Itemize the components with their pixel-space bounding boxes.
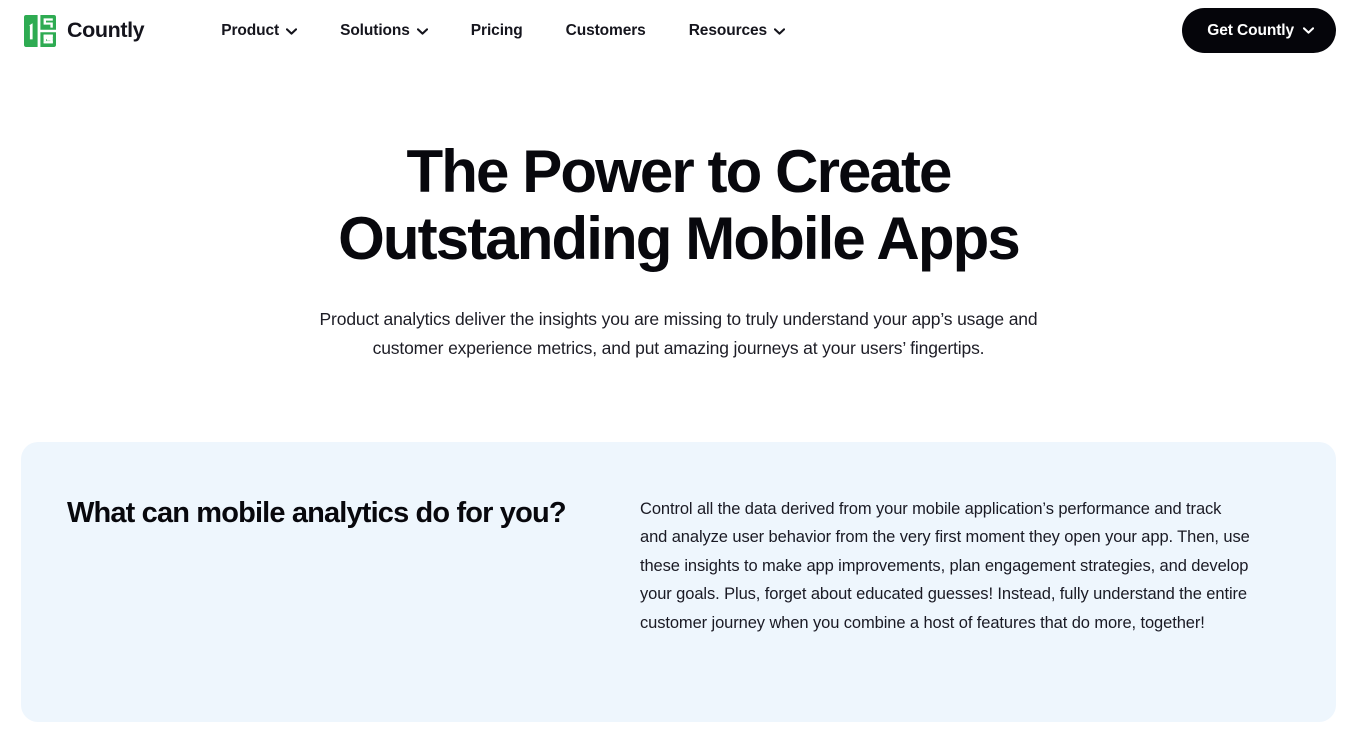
site-header: Countly Product Solutions Pricing Custom… bbox=[0, 0, 1357, 62]
chevron-down-icon bbox=[417, 28, 428, 35]
hero-subtitle: Product analytics deliver the insights y… bbox=[284, 305, 1074, 362]
nav-item-solutions[interactable]: Solutions bbox=[340, 16, 428, 46]
brand-name: Countly bbox=[67, 20, 144, 42]
info-card-body: Control all the data derived from your m… bbox=[640, 495, 1252, 637]
nav-item-pricing[interactable]: Pricing bbox=[471, 16, 523, 46]
info-card-left: What can mobile analytics do for you? bbox=[67, 495, 627, 532]
nav-item-label: Solutions bbox=[340, 22, 410, 40]
get-countly-label: Get Countly bbox=[1207, 22, 1294, 40]
chevron-down-icon bbox=[1303, 27, 1314, 34]
brand-logo-link[interactable]: Countly bbox=[22, 14, 144, 48]
info-card-heading: What can mobile analytics do for you? bbox=[67, 495, 597, 532]
nav-item-product[interactable]: Product bbox=[221, 16, 297, 46]
main-navigation: Product Solutions Pricing Customers Reso… bbox=[221, 16, 785, 46]
chevron-down-icon bbox=[286, 28, 297, 35]
nav-item-label: Customers bbox=[566, 22, 646, 40]
page-title: The Power to Create Outstanding Mobile A… bbox=[249, 138, 1109, 272]
info-card: What can mobile analytics do for you? Co… bbox=[21, 442, 1336, 722]
countly-logo-icon bbox=[22, 14, 58, 48]
hero-section: The Power to Create Outstanding Mobile A… bbox=[0, 62, 1357, 362]
chevron-down-icon bbox=[774, 28, 785, 35]
nav-item-label: Resources bbox=[689, 22, 767, 40]
nav-item-resources[interactable]: Resources bbox=[689, 16, 785, 46]
nav-item-label: Product bbox=[221, 22, 279, 40]
info-card-right: Control all the data derived from your m… bbox=[627, 495, 1252, 637]
nav-item-label: Pricing bbox=[471, 22, 523, 40]
get-countly-button[interactable]: Get Countly bbox=[1182, 8, 1336, 53]
nav-item-customers[interactable]: Customers bbox=[566, 16, 646, 46]
